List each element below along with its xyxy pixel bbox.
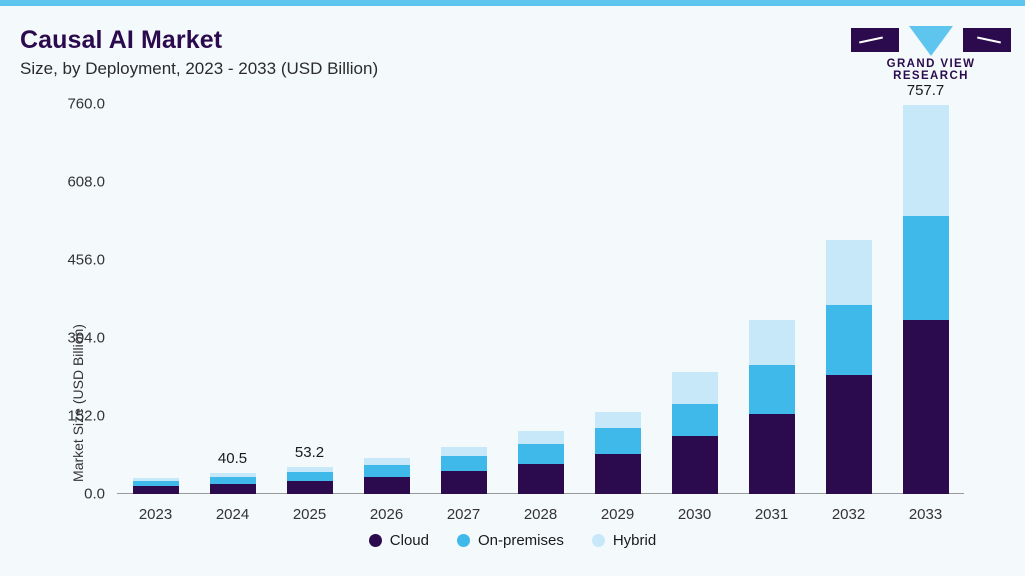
chart-plot-area: Market Size (USD Billion) 0.0152.0304.04… (117, 104, 964, 494)
bar-segment-hybrid[interactable] (826, 240, 872, 306)
y-tick-label: 152.0 (67, 408, 105, 425)
x-tick-label: 2026 (370, 506, 403, 523)
bar-segment-on-premises[interactable] (133, 481, 179, 486)
bar-group[interactable] (441, 447, 487, 494)
bar-segment-on-premises[interactable] (518, 444, 564, 464)
legend-item-hybrid[interactable]: Hybrid (592, 532, 656, 549)
bar-group[interactable] (595, 412, 641, 494)
bar-segment-on-premises[interactable] (364, 465, 410, 476)
bar-segment-cloud[interactable] (287, 481, 333, 494)
bar-segment-on-premises[interactable] (287, 472, 333, 481)
legend-label: Cloud (390, 532, 429, 549)
grand-view-research-logo: GRAND VIEW RESEARCH (851, 26, 1011, 78)
legend-item-on-premises[interactable]: On-premises (457, 532, 564, 549)
logo-marks (851, 26, 1011, 54)
bar-segment-cloud[interactable] (210, 484, 256, 494)
x-tick-label: 2030 (678, 506, 711, 523)
bar-segment-hybrid[interactable] (287, 467, 333, 473)
bar-group[interactable] (749, 320, 795, 494)
bar-segment-on-premises[interactable] (210, 477, 256, 484)
bar-segment-cloud[interactable] (595, 454, 641, 494)
top-accent-bar (0, 0, 1025, 6)
bar-segment-on-premises[interactable] (903, 216, 949, 319)
bar-segment-on-premises[interactable] (672, 404, 718, 436)
x-tick-label: 2023 (139, 506, 172, 523)
bar-segment-hybrid[interactable] (133, 478, 179, 481)
chart-legend: CloudOn-premisesHybrid (0, 532, 1025, 549)
bar-group[interactable] (672, 372, 718, 494)
chart-page: Causal AI Market Size, by Deployment, 20… (0, 0, 1025, 576)
legend-label: Hybrid (613, 532, 656, 549)
legend-label: On-premises (478, 532, 564, 549)
bar-group[interactable] (364, 458, 410, 494)
x-tick-label: 2033 (909, 506, 942, 523)
logo-left-bar-icon (851, 28, 899, 52)
bar-segment-cloud[interactable] (133, 486, 179, 494)
x-tick-label: 2028 (524, 506, 557, 523)
bar-group[interactable] (133, 478, 179, 494)
bar-segment-hybrid[interactable] (903, 105, 949, 216)
bar-segment-cloud[interactable] (672, 436, 718, 494)
bar-group[interactable] (826, 239, 872, 494)
bar-segment-cloud[interactable] (441, 471, 487, 494)
legend-swatch-icon (592, 534, 605, 547)
bar-segment-cloud[interactable] (826, 375, 872, 494)
bar-group[interactable] (518, 431, 564, 494)
bar-value-label: 53.2 (295, 444, 324, 461)
bar-segment-on-premises[interactable] (441, 456, 487, 471)
logo-right-bar-icon (963, 28, 1011, 52)
x-tick-label: 2027 (447, 506, 480, 523)
bar-segment-cloud[interactable] (749, 414, 795, 494)
bar-segment-hybrid[interactable] (672, 372, 718, 404)
x-tick-label: 2031 (755, 506, 788, 523)
bar-segment-on-premises[interactable] (826, 305, 872, 375)
bar-segment-cloud[interactable] (903, 320, 949, 494)
y-tick-label: 608.0 (67, 174, 105, 191)
legend-item-cloud[interactable]: Cloud (369, 532, 429, 549)
bar-segment-hybrid[interactable] (364, 458, 410, 465)
bar-segment-hybrid[interactable] (595, 412, 641, 427)
logo-triangle-icon (909, 26, 953, 56)
page-subtitle: Size, by Deployment, 2023 - 2033 (USD Bi… (20, 59, 378, 79)
y-tick-label: 304.0 (67, 330, 105, 347)
y-tick-label: 760.0 (67, 96, 105, 113)
legend-swatch-icon (369, 534, 382, 547)
legend-swatch-icon (457, 534, 470, 547)
bar-group[interactable]: 757.7 (903, 105, 949, 494)
bar-group[interactable]: 53.2 (287, 467, 333, 494)
bar-segment-cloud[interactable] (364, 477, 410, 494)
page-title: Causal AI Market (20, 26, 222, 55)
logo-wordmark: GRAND VIEW RESEARCH (851, 58, 1011, 82)
bar-segment-hybrid[interactable] (518, 431, 564, 444)
bar-segment-cloud[interactable] (518, 464, 564, 494)
y-tick-label: 0.0 (84, 486, 105, 503)
x-tick-label: 2032 (832, 506, 865, 523)
x-tick-label: 2024 (216, 506, 249, 523)
bar-segment-on-premises[interactable] (595, 428, 641, 454)
x-tick-label: 2025 (293, 506, 326, 523)
bar-value-label: 40.5 (218, 450, 247, 467)
bar-segment-hybrid[interactable] (441, 447, 487, 457)
x-tick-label: 2029 (601, 506, 634, 523)
bar-group[interactable]: 40.5 (210, 473, 256, 494)
bar-segment-hybrid[interactable] (210, 473, 256, 477)
y-tick-label: 456.0 (67, 252, 105, 269)
bar-segment-hybrid[interactable] (749, 320, 795, 365)
bar-segment-on-premises[interactable] (749, 365, 795, 414)
bar-value-label: 757.7 (907, 82, 945, 99)
